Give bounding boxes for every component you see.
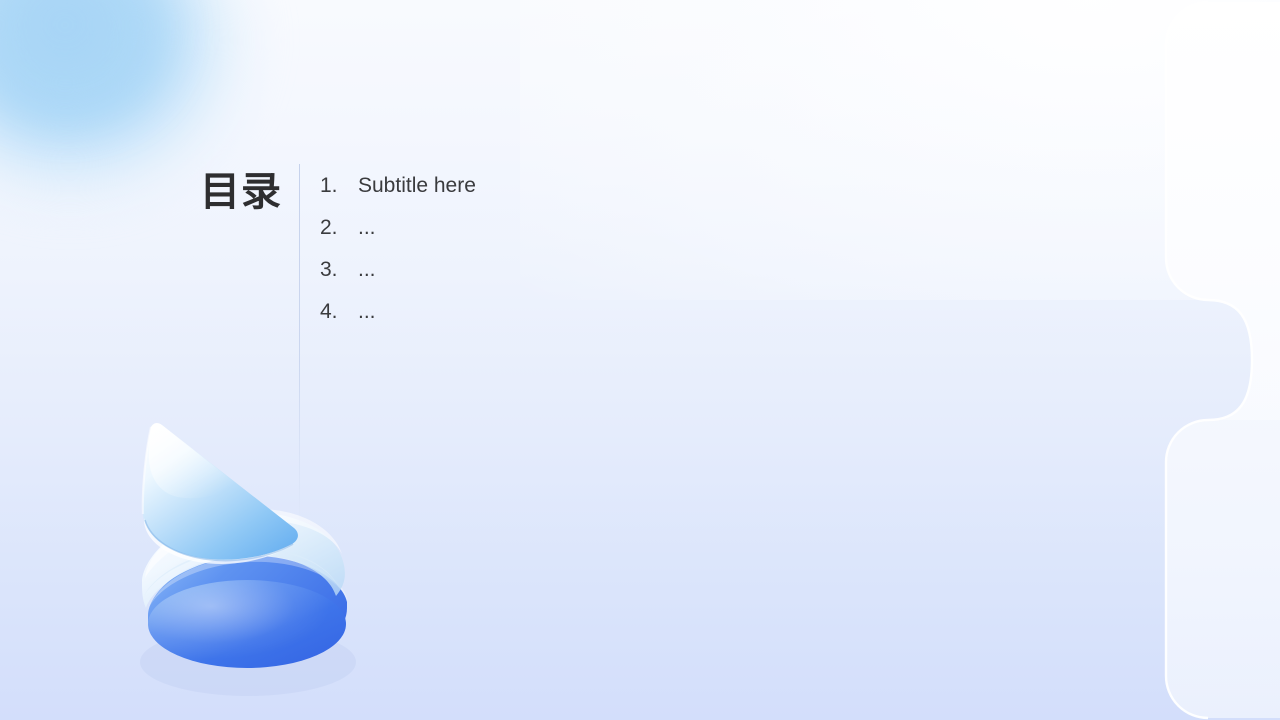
list-item[interactable]: 2. ...: [320, 216, 476, 258]
list-item-number: 2.: [320, 216, 358, 240]
toc-list: 1. Subtitle here 2. ... 3. ... 4. ...: [320, 174, 476, 342]
slide-content: 目录 1. Subtitle here 2. ... 3. ... 4. ...: [0, 0, 1280, 720]
list-item[interactable]: 4. ...: [320, 300, 476, 342]
list-item[interactable]: 3. ...: [320, 258, 476, 300]
page-title: 目录: [200, 170, 280, 214]
list-item[interactable]: 1. Subtitle here: [320, 174, 476, 216]
slide-canvas: 目录 1. Subtitle here 2. ... 3. ... 4. ...: [0, 0, 1280, 720]
list-item-number: 1.: [320, 174, 358, 198]
list-item-label: ...: [358, 258, 376, 282]
list-item-label: ...: [358, 216, 376, 240]
vertical-divider: [299, 164, 300, 524]
list-item-label: Subtitle here: [358, 174, 476, 198]
list-item-label: ...: [358, 300, 376, 324]
list-item-number: 3.: [320, 258, 358, 282]
list-item-number: 4.: [320, 300, 358, 324]
